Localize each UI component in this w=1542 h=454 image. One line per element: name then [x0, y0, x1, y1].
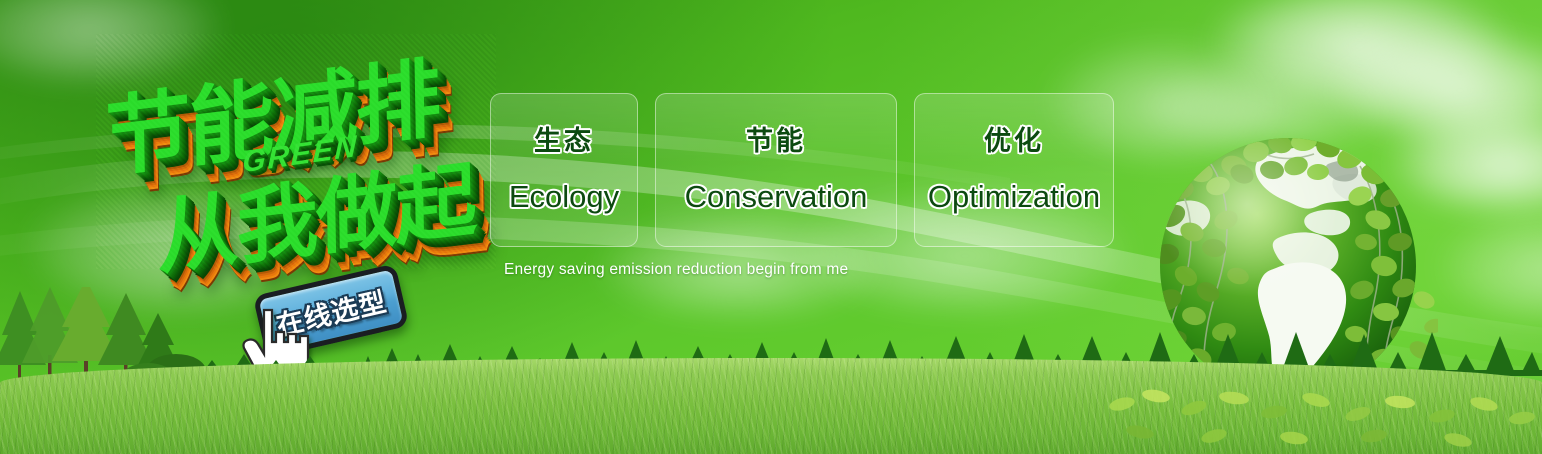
feature-card-optimization[interactable]: 优化 Optimization: [914, 93, 1114, 247]
feature-card-conservation[interactable]: 节能 Conservation: [655, 93, 897, 247]
card-title-en: Ecology: [509, 179, 619, 215]
headline-green-word: GREEN: [242, 130, 359, 181]
headline-weave-texture: [96, 34, 496, 269]
feature-card-group: 生态 Ecology 节能 Conservation 优化 Optimizati…: [490, 93, 1114, 247]
card-title-cn: 节能: [746, 119, 806, 158]
grass-texture: [0, 358, 1542, 454]
cloud-top-right-1: [1210, 0, 1510, 100]
feature-card-ecology[interactable]: 生态 Ecology: [490, 93, 638, 247]
card-title-cn: 优化: [984, 119, 1044, 158]
banner-tagline: Energy saving emission reduction begin f…: [504, 261, 848, 279]
card-title-cn: 生态: [534, 119, 594, 158]
cloud-left-top: [0, 0, 220, 80]
card-title-en: Conservation: [685, 179, 868, 215]
headline-line-2: 从我做起: [156, 132, 476, 291]
green-energy-banner: 节能减排 从我做起 GREEN 在线选型 生态 Ecology 节能 Conse…: [0, 0, 1542, 454]
card-title-en: Optimization: [928, 179, 1100, 215]
energy-saving-3d-headline: 节能减排 从我做起 GREEN: [96, 34, 496, 269]
headline-line-1: 节能减排: [104, 27, 440, 194]
cloud-far-right-low: [1440, 210, 1542, 320]
grass-field: [0, 358, 1542, 454]
